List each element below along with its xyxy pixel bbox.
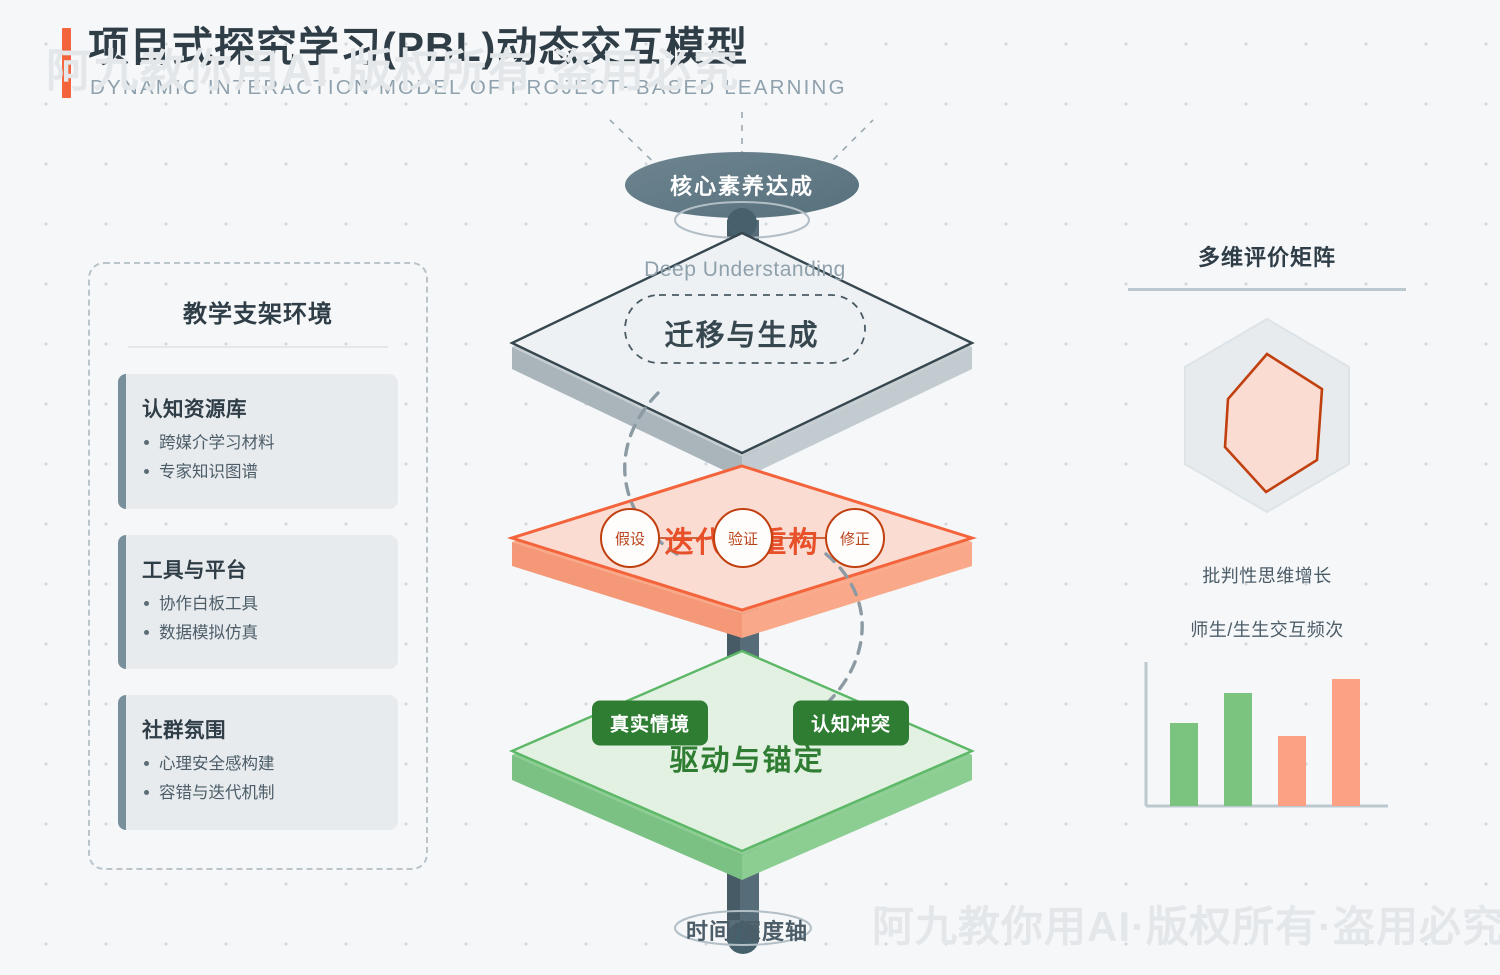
radar-chart-svg xyxy=(1162,307,1372,552)
driver-pill-cognitive-conflict[interactable]: 认知冲突 xyxy=(793,701,909,746)
page-title: 项目式探究学习(PBL)动态交互模型 xyxy=(62,22,847,72)
bar-1 xyxy=(1170,723,1198,806)
title-accent-bar xyxy=(62,28,71,98)
page-header: 项目式探究学习(PBL)动态交互模型 DYNAMIC INTERACTION M… xyxy=(62,22,847,100)
metric-label-interaction-frequency: 师生/生生交互频次 xyxy=(1128,616,1406,642)
matrix-divider xyxy=(1128,288,1406,291)
list-item: 跨媒介学习材料 xyxy=(142,432,382,454)
cycle-node-verify[interactable]: 验证 xyxy=(713,508,773,568)
metric-label-critical-thinking: 批判性思维增长 xyxy=(1128,562,1406,588)
list-item: 容错与迭代机制 xyxy=(142,782,382,804)
base-knob xyxy=(727,922,759,954)
scaffold-card-community-climate[interactable]: 社群氛围 心理安全感构建 容错与迭代机制 xyxy=(118,695,398,830)
scaffold-card-title: 工具与平台 xyxy=(142,553,382,583)
list-item: 数据模拟仿真 xyxy=(142,622,382,644)
scaffold-card-tools-platform[interactable]: 工具与平台 协作白板工具 数据模拟仿真 xyxy=(118,535,398,670)
scaffold-panel: 教学支架环境 认知资源库 跨媒介学习材料 专家知识图谱 工具与平台 协作白板工具… xyxy=(88,262,428,870)
bar-chart-svg xyxy=(1132,656,1402,828)
bar-4 xyxy=(1332,679,1360,806)
scaffold-card-list: 协作白板工具 数据模拟仿真 xyxy=(142,593,382,645)
pbl-model-stack: 核心素养达成 Deep Understanding 迁移与生成 迭代与重构 驱动… xyxy=(455,110,1055,960)
list-item: 心理安全感构建 xyxy=(142,753,382,775)
bar-chart xyxy=(1128,656,1406,828)
scaffold-card-list: 心理安全感构建 容错与迭代机制 xyxy=(142,753,382,805)
scaffold-card-list: 跨媒介学习材料 专家知识图谱 xyxy=(142,432,382,484)
bar-2 xyxy=(1224,693,1252,806)
list-item: 协作白板工具 xyxy=(142,593,382,615)
layer-plate-top xyxy=(512,233,972,479)
layer-plate-bottom xyxy=(512,651,972,880)
evaluation-matrix-panel: 多维评价矩阵 批判性思维增长 师生/生生交互频次 xyxy=(1128,240,1406,828)
bar-3 xyxy=(1278,736,1306,806)
radar-chart xyxy=(1128,307,1406,552)
scaffold-card-title: 认知资源库 xyxy=(142,392,382,422)
cycle-node-hypothesis[interactable]: 假设 xyxy=(600,508,660,568)
scaffold-card-cognitive-resources[interactable]: 认知资源库 跨媒介学习材料 专家知识图谱 xyxy=(118,374,398,509)
scaffold-panel-title: 教学支架环境 xyxy=(90,264,426,329)
cycle-node-revise[interactable]: 修正 xyxy=(825,508,885,568)
scaffold-card-title: 社群氛围 xyxy=(142,713,382,743)
driver-pill-real-context[interactable]: 真实情境 xyxy=(592,701,708,746)
matrix-panel-title: 多维评价矩阵 xyxy=(1128,240,1406,272)
list-item: 专家知识图谱 xyxy=(142,461,382,483)
page-subtitle: DYNAMIC INTERACTION MODEL OF PROJECT−BAS… xyxy=(62,76,847,100)
scaffold-divider xyxy=(128,346,388,348)
